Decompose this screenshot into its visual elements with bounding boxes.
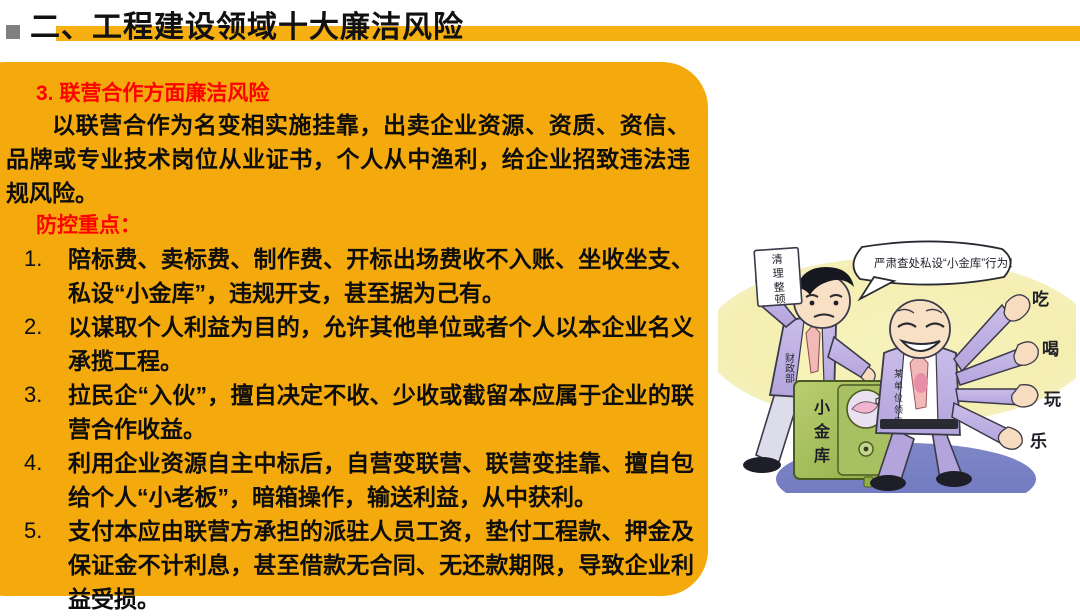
paper-label-char: 清: [771, 253, 783, 267]
cartoon-illustration: 财政部 清 理 整 顿 小 金 库: [718, 233, 1076, 493]
list-item: 1. 陪标费、卖标费、制作费、开标出场费收不入账、坐收坐支、私设“小金库”，违规…: [10, 242, 694, 310]
list-item: 2. 以谋取个人利益为目的，允许其他单位或者个人以本企业名义承揽工程。: [10, 310, 694, 378]
list-item-number: 5.: [24, 514, 60, 548]
page-title: 二、工程建设领域十大廉洁风险: [30, 6, 464, 50]
content-panel: 3. 联营合作方面廉洁风险 以联营合作为名变相实施挂靠，出卖企业资源、资质、资信…: [0, 62, 708, 596]
shoe: [870, 475, 906, 491]
safe-label-char: 库: [814, 446, 830, 465]
list-item-number: 4.: [24, 446, 60, 480]
list-item: 4. 利用企业资源自主中标后，自营变联营、联营变挂靠、擅自包给个人“小老板”，暗…: [10, 446, 694, 514]
list-item-text: 利用企业资源自主中标后，自营变联营、联营变挂靠、擅自包给个人“小老板”，暗箱操作…: [68, 450, 694, 510]
list-item-number: 3.: [24, 378, 60, 412]
indulgence-char-1: 喝: [1042, 340, 1059, 359]
paper-label-char: 理: [772, 267, 784, 281]
shoe: [743, 457, 781, 473]
paper-label-char: 顿: [774, 292, 786, 307]
indulgence-char-0: 吃: [1032, 289, 1049, 309]
right-figure-label-char: 导: [894, 417, 903, 427]
right-figure-label-char: 领: [894, 404, 903, 415]
measures-list: 1. 陪标费、卖标费、制作费、开标出场费收不入账、坐收坐支、私设“小金库”，违规…: [10, 242, 694, 616]
risk-heading: 3. 联营合作方面廉洁风险: [36, 80, 269, 107]
list-item-text: 拉民企“入伙”，擅自决定不收、少收或截留本应属于企业的联营合作收益。: [68, 382, 694, 442]
slide-title-bar: 二、工程建设领域十大廉洁风险: [0, 0, 1080, 62]
bullet-square-icon: [6, 25, 20, 39]
list-item-number: 1.: [24, 242, 60, 276]
paper-sign: 清 理 整 顿: [754, 248, 802, 307]
paper-label-char: 整: [773, 280, 785, 295]
right-figure-label-char: 某: [894, 369, 903, 379]
left-figure-label: 财政部: [783, 352, 795, 384]
list-item-text: 陪标费、卖标费、制作费、开标出场费收不入账、坐收坐支、私设“小金库”，违规开支，…: [68, 246, 694, 306]
right-figure-label-char: 位: [894, 392, 903, 403]
speech-bubble-text: 严肃查处私设“小金库”行为！: [874, 256, 1020, 270]
list-item-number: 2.: [24, 310, 60, 344]
content-panel-inner: 3. 联营合作方面廉洁风险 以联营合作为名变相实施挂靠，出卖企业资源、资质、资信…: [0, 62, 700, 596]
focus-heading: 防控重点：: [36, 212, 141, 239]
indulgence-char-2: 玩: [1044, 390, 1061, 409]
right-figure-label-char: 单: [894, 380, 903, 391]
list-item-text: 支付本应由联营方承担的派驻人员工资，垫付工程款、押金及保证金不计利息，甚至借款无…: [68, 518, 694, 612]
list-item-text: 以谋取个人利益为目的，允许其他单位或者个人以本企业名义承揽工程。: [68, 314, 694, 374]
shoe: [936, 471, 972, 487]
safe-label-char: 小: [814, 399, 830, 417]
list-item: 5. 支付本应由联营方承担的派驻人员工资，垫付工程款、押金及保证金不计利息，甚至…: [10, 514, 694, 616]
list-item: 3. 拉民企“入伙”，擅自决定不收、少收或截留本应属于企业的联营合作收益。: [10, 378, 694, 446]
safe-label-char: 金: [813, 422, 831, 441]
indulgence-char-3: 乐: [1030, 432, 1047, 451]
intro-paragraph: 以联营合作为名变相实施挂靠，出卖企业资源、资质、资信、品牌或专业技术岗位从业证书…: [6, 108, 690, 210]
